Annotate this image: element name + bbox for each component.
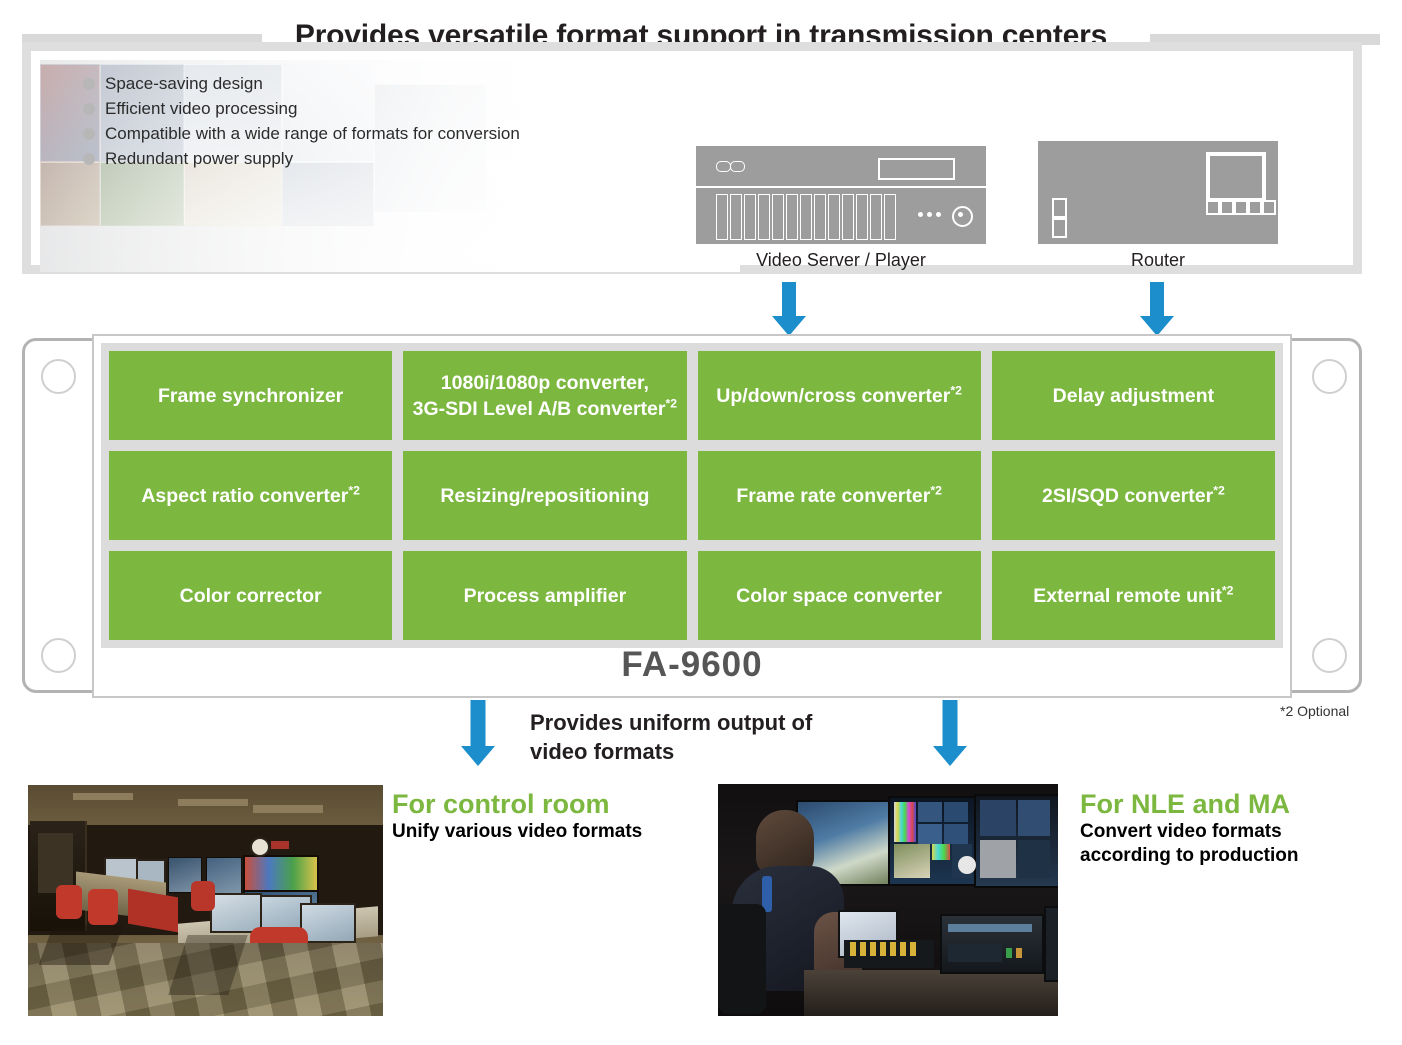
nle-ma-heading: For NLE and MA (1080, 788, 1299, 820)
nle-ma-desc-line1: Convert video formats (1080, 820, 1299, 844)
rack-mount-hole-icon (41, 359, 76, 394)
rack-mount-hole-icon (1312, 359, 1347, 394)
feature-label: Compatible with a wide range of formats … (105, 124, 520, 143)
optional-footnote: *2 Optional (1280, 703, 1349, 719)
feature-item: Efficient video processing (83, 96, 703, 121)
output-caption-line2: video formats (530, 739, 674, 764)
arrow-server-to-device (772, 282, 806, 336)
function-label: Color corrector (180, 585, 322, 607)
function-cell: External remote unit*2 (992, 551, 1275, 640)
control-room-heading: For control room (392, 788, 642, 820)
function-optional-mark: *2 (1213, 483, 1225, 497)
router-port-icon (1052, 198, 1067, 218)
control-room-label-block: For control room Unify various video for… (392, 788, 642, 844)
function-cell: 1080i/1080p converter, 3G-SDI Level A/B … (403, 351, 686, 440)
function-cell: Resizing/repositioning (403, 451, 686, 540)
control-room-desc-line1: Unify various video formats (392, 820, 642, 844)
nle-ma-scene (718, 784, 1058, 1016)
server-power-icon (952, 206, 973, 227)
arrow-router-to-device (1140, 282, 1174, 336)
function-cell: Aspect ratio converter*2 (109, 451, 392, 540)
function-label: Resizing/repositioning (440, 485, 649, 507)
function-optional-mark: *2 (950, 383, 962, 397)
control-room-photo (28, 785, 383, 1016)
function-label: Frame synchronizer (158, 385, 343, 407)
function-label: Aspect ratio converter (141, 485, 348, 507)
model-name: FA-9600 (92, 645, 1292, 685)
feature-label: Redundant power supply (105, 149, 293, 168)
function-cell: Color corrector (109, 551, 392, 640)
feature-label: Efficient video processing (105, 99, 297, 118)
function-cell: Up/down/cross converter*2 (698, 351, 981, 440)
control-room-scene (28, 785, 383, 1016)
function-cell: Frame synchronizer (109, 351, 392, 440)
feature-list: Space-saving design Efficient video proc… (83, 71, 703, 171)
feature-item: Redundant power supply (83, 146, 703, 171)
nle-ma-photo (718, 784, 1058, 1016)
nle-ma-desc-line2: according to production (1080, 844, 1299, 868)
function-cell: Delay adjustment (992, 351, 1275, 440)
feature-item: Compatible with a wide range of formats … (83, 121, 703, 146)
bullet-dot-icon (83, 128, 95, 140)
function-optional-mark: *2 (930, 483, 942, 497)
video-server-caption: Video Server / Player (756, 250, 926, 271)
server-indicator-icon (730, 161, 745, 172)
router-caption: Router (1131, 250, 1185, 271)
server-display-icon (878, 158, 955, 180)
function-cell: Color space converter (698, 551, 981, 640)
server-indicator-icon (716, 161, 731, 172)
function-cell: 2SI/SQD converter*2 (992, 451, 1275, 540)
function-label-line2: 3G-SDI Level A/B converter (413, 398, 666, 420)
bullet-dot-icon (83, 153, 95, 165)
feature-label: Space-saving design (105, 74, 263, 93)
bullet-dot-icon (83, 78, 95, 90)
video-server-icon (696, 146, 986, 244)
function-optional-mark: *2 (348, 483, 360, 497)
nle-ma-label-block: For NLE and MA Convert video formats acc… (1080, 788, 1299, 868)
function-label: Up/down/cross converter (716, 385, 950, 407)
function-cell: Process amplifier (403, 551, 686, 640)
server-divider (696, 186, 986, 188)
rack-mount-hole-icon (1312, 638, 1347, 673)
function-optional-mark: *2 (666, 396, 678, 410)
feature-item: Space-saving design (83, 71, 703, 96)
function-cell: Frame rate converter*2 (698, 451, 981, 540)
arrow-device-to-control-room (458, 700, 498, 770)
router-screen-icon (1206, 152, 1266, 202)
function-label: 2SI/SQD converter (1042, 485, 1213, 507)
router-port-icon (1052, 218, 1067, 238)
function-grid: Frame synchronizer 1080i/1080p converter… (101, 343, 1283, 648)
rack-mount-hole-icon (41, 638, 76, 673)
function-label: Delay adjustment (1053, 385, 1214, 407)
function-label-line1: 1080i/1080p converter, (441, 372, 649, 394)
router-icon (1038, 141, 1278, 244)
bullet-dot-icon (83, 103, 95, 115)
function-label: External remote unit (1033, 585, 1222, 607)
function-label: Process amplifier (464, 585, 627, 607)
output-caption: Provides uniform output of video formats (530, 708, 950, 766)
function-optional-mark: *2 (1222, 583, 1234, 597)
function-label: Color space converter (736, 585, 942, 607)
function-label: Frame rate converter (736, 485, 930, 507)
output-caption-line1: Provides uniform output of (530, 710, 812, 735)
